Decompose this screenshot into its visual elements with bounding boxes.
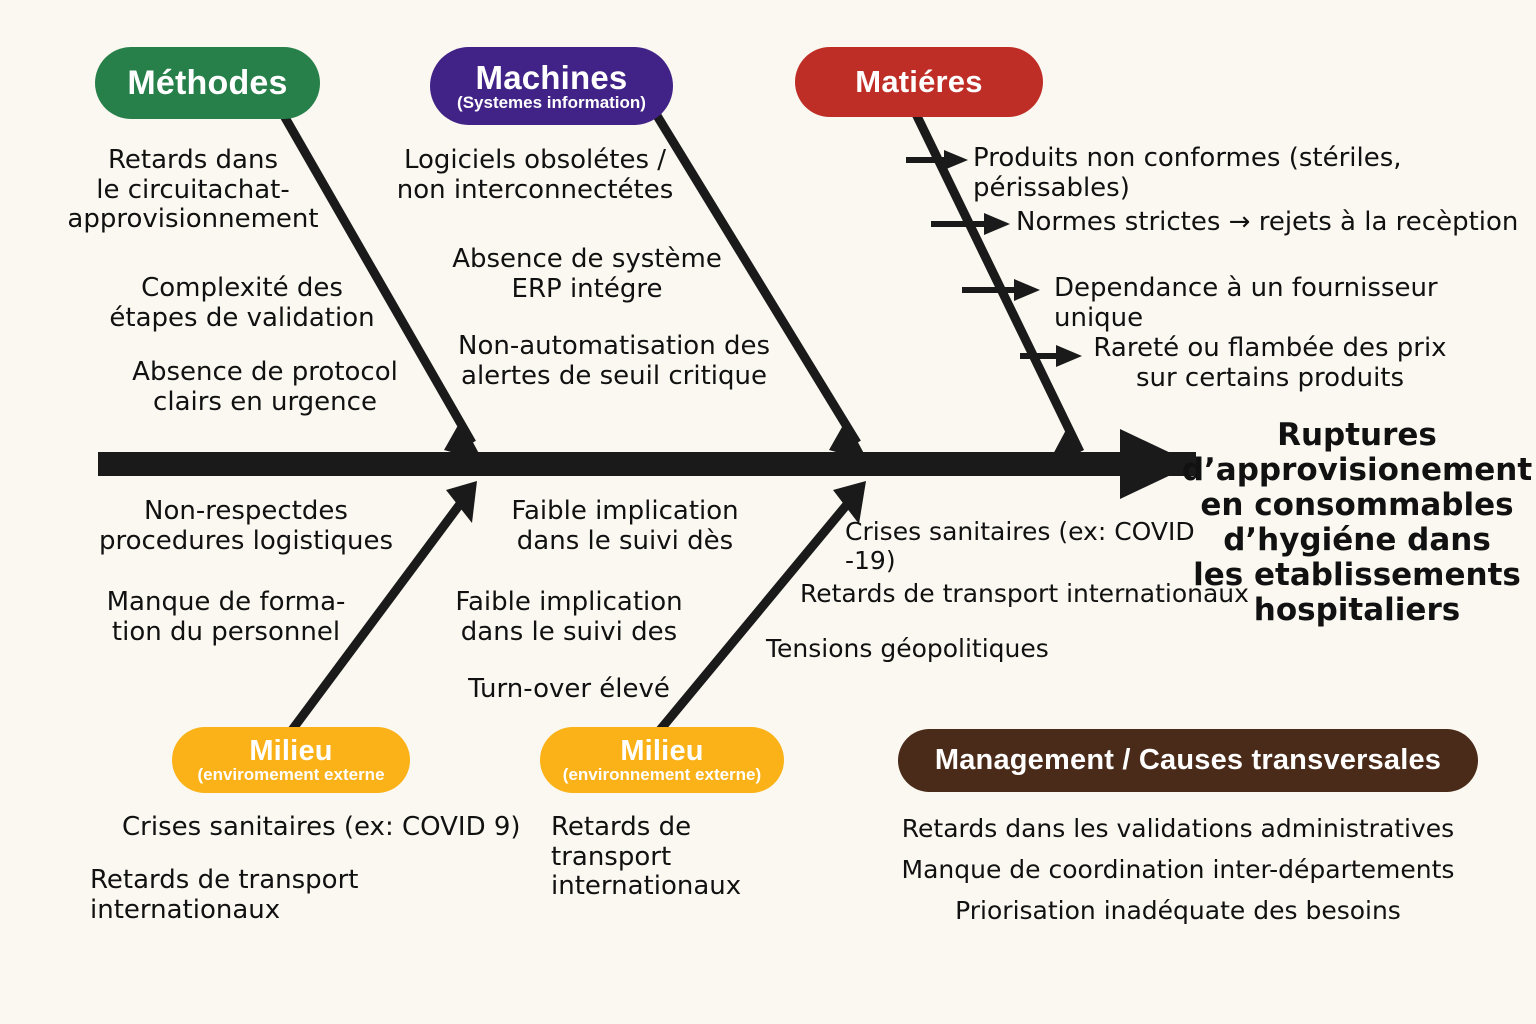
category-pill-methodes[interactable]: Méthodes [95,47,320,119]
cause-machines-1: Logiciels obsolétes / non interconnectét… [385,146,685,205]
cause-machines-2: Absence de système ERP intégre [442,245,732,304]
category-pill-milieu-center[interactable]: Milieu (environnement externe) [540,727,784,793]
cause-matieres-3: Dependance à un fournisseur unique [1054,274,1524,333]
cause-management-above-3: Tensions géopolitiques [766,635,1166,664]
cause-milieu-center-above-3: Turn-over élevé [424,675,714,705]
cause-methodes-2: Complexité des étapes de validation [108,274,376,333]
category-sublabel-milieu-left: (enviromement externe [197,766,384,783]
category-pill-machines[interactable]: Machines (Systemes information) [430,47,673,125]
category-pill-milieu-left[interactable]: Milieu (enviromement externe [172,727,410,793]
cause-machines-3: Non-automatisation des alertes de seuil … [440,332,788,391]
cause-matieres-1: Produits non conformes (stériles, périss… [973,144,1533,203]
cause-milieu-left-below-2: Retards de transport internationaux [90,866,390,925]
category-pill-management[interactable]: Management / Causes transversales [898,729,1478,792]
cause-milieu-left-below-1: Crises sanitaires (ex: COVID 9) [122,813,542,843]
cause-matieres-4: Rareté ou flambée des prix sur certains … [1090,334,1450,393]
cause-milieu-left-above-1: Non-respectdes procedures logistiques [96,497,396,556]
cause-matieres-2: Normes strictes → rejets à la recèption [1016,208,1536,238]
category-label-machines: Machines [476,61,628,95]
category-label-methodes: Méthodes [127,66,287,101]
cause-management-below-2: Manque de coordination inter-département… [868,856,1488,885]
category-sublabel-machines: (Systemes information) [457,94,646,111]
cause-milieu-center-below-1: Retards de transport internationaux [551,813,811,902]
category-label-management: Management / Causes transversales [935,746,1441,776]
cause-management-below-3: Priorisation inadéquate des besoins [868,897,1488,926]
category-sublabel-milieu-center: (environnement externe) [563,766,761,783]
fishbone-diagram: Méthodes Machines (Systemes information)… [0,0,1536,1024]
spine-arrow [98,429,1196,499]
category-label-matieres: Matiéres [855,66,982,98]
cause-methodes-1: Retards dans le circuitachat- approvisio… [58,146,328,235]
effect-statement: Ruptures d’approvisionement en consommab… [1178,418,1536,628]
category-label-milieu-center: Milieu [620,737,703,767]
category-pill-matieres[interactable]: Matiéres [795,47,1043,117]
cause-milieu-center-above-1: Faible implication dans le suivi dès [480,497,770,556]
cause-milieu-left-above-2: Manque de forma- tion du personnel [96,588,356,647]
cause-methodes-3: Absence de protocol clairs en urgence [120,358,410,417]
cause-milieu-center-above-2: Faible implication dans le suivi des [424,588,714,647]
cause-management-below-1: Retards dans les validations administrat… [868,815,1488,844]
category-label-milieu-left: Milieu [249,737,332,767]
